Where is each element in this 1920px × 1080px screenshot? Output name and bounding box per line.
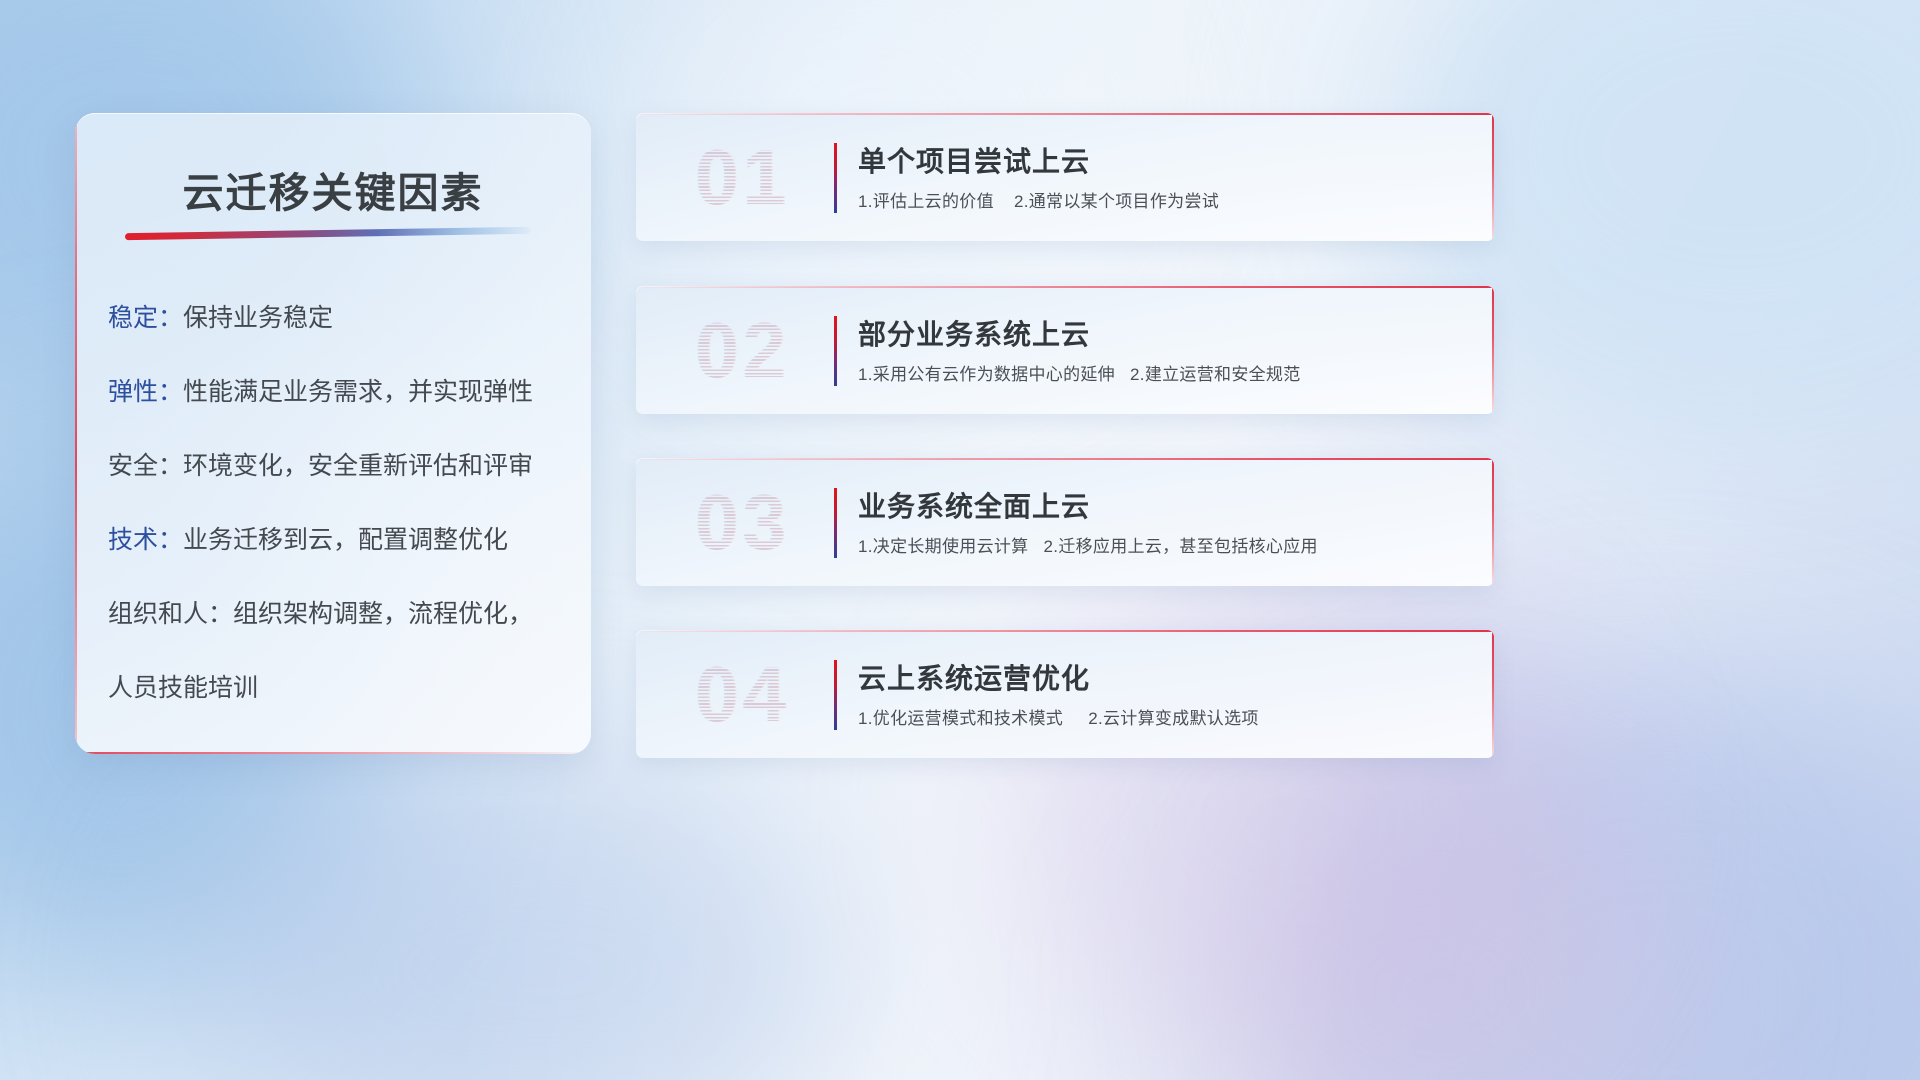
page-title: 云迁移关键因素 bbox=[75, 159, 591, 219]
step-description: 1.采用公有云作为数据中心的延伸 2.建立运营和安全规范 bbox=[858, 360, 1301, 385]
step-number-tint: 01 bbox=[664, 125, 823, 229]
key-factors-list: 稳定：保持业务稳定 弹性：性能满足业务需求，并实现弹性 安全：环境变化，安全重新… bbox=[108, 306, 569, 701]
list-item-label: 弹性： bbox=[108, 378, 183, 406]
step-number: 04 04 bbox=[662, 642, 822, 746]
step-card[interactable]: 01 01 单个项目尝试上云 1.评估上云的价值 2.通常以某个项目作为尝试 bbox=[636, 113, 1494, 241]
list-item: 弹性：性能满足业务需求，并实现弹性 bbox=[108, 380, 569, 405]
accent-bar bbox=[834, 316, 837, 386]
accent-bar bbox=[834, 488, 837, 558]
list-item: 安全：环境变化，安全重新评估和评审 bbox=[108, 454, 569, 479]
list-item-body: 保持业务稳定 bbox=[183, 304, 333, 332]
list-item: 稳定：保持业务稳定 bbox=[108, 306, 569, 331]
list-item-label: 安全： bbox=[108, 452, 183, 480]
accent-bar bbox=[834, 660, 837, 730]
step-card[interactable]: 03 03 业务系统全面上云 1.决定长期使用云计算 2.迁移应用上云，甚至包括… bbox=[636, 458, 1494, 586]
step-number-tint: 03 bbox=[664, 470, 823, 574]
list-item-label: 技术： bbox=[108, 526, 183, 554]
step-title: 云上系统运营优化 bbox=[858, 657, 1090, 697]
step-number: 01 01 bbox=[662, 125, 822, 229]
step-card[interactable]: 02 02 部分业务系统上云 1.采用公有云作为数据中心的延伸 2.建立运营和安… bbox=[636, 286, 1494, 414]
step-card[interactable]: 04 04 云上系统运营优化 1.优化运营模式和技术模式 2.云计算变成默认选项 bbox=[636, 630, 1494, 758]
list-item-body: 组织架构调整，流程优化， bbox=[233, 600, 533, 628]
list-item: 人员技能培训 bbox=[108, 676, 569, 701]
list-item-body: 环境变化，安全重新评估和评审 bbox=[183, 452, 533, 480]
key-factors-panel: 云迁移关键因素 稳定：保持业务稳定 弹性：性能满足业务需求，并实现弹性 安全：环… bbox=[75, 113, 591, 754]
step-number-tint: 02 bbox=[664, 298, 823, 402]
list-item-body: 业务迁移到云，配置调整优化 bbox=[183, 526, 508, 554]
step-description: 1.优化运营模式和技术模式 2.云计算变成默认选项 bbox=[858, 704, 1259, 729]
step-title: 单个项目尝试上云 bbox=[858, 140, 1090, 180]
step-description: 1.决定长期使用云计算 2.迁移应用上云，甚至包括核心应用 bbox=[858, 532, 1318, 557]
title-underline bbox=[125, 227, 531, 240]
list-item-body: 人员技能培训 bbox=[108, 674, 258, 702]
step-title: 业务系统全面上云 bbox=[858, 485, 1090, 525]
accent-bar bbox=[834, 143, 837, 213]
list-item-label: 稳定： bbox=[108, 304, 183, 332]
list-item-label: 组织和人： bbox=[108, 600, 233, 628]
step-number: 02 02 bbox=[662, 298, 822, 402]
list-item: 组织和人：组织架构调整，流程优化， bbox=[108, 602, 569, 627]
list-item: 技术：业务迁移到云，配置调整优化 bbox=[108, 528, 569, 553]
list-item-body: 性能满足业务需求，并实现弹性 bbox=[183, 378, 533, 406]
step-description: 1.评估上云的价值 2.通常以某个项目作为尝试 bbox=[858, 187, 1219, 212]
slide-stage: 云迁移关键因素 稳定：保持业务稳定 弹性：性能满足业务需求，并实现弹性 安全：环… bbox=[0, 0, 1920, 1080]
step-number-tint: 04 bbox=[664, 642, 823, 746]
step-number: 03 03 bbox=[662, 470, 822, 574]
step-title: 部分业务系统上云 bbox=[858, 313, 1090, 353]
